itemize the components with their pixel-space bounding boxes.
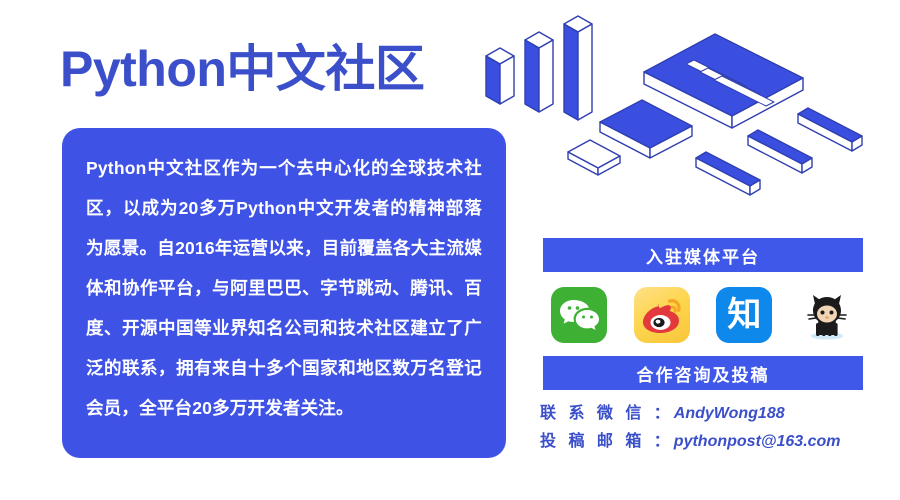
contact-wechat-value[interactable]: AndyWong188 [674, 405, 785, 422]
iso-bar-medium [525, 32, 553, 112]
contact-block: 联 系 微 信 ：AndyWong188 投 稿 邮 箱 ：pythonpost… [540, 400, 880, 456]
media-platform-heading: 入驻媒体平台 [543, 238, 863, 272]
social-icon-row: 知 [543, 282, 863, 348]
poster-canvas: Python中文社区 [0, 0, 900, 500]
contact-heading: 合作咨询及投稿 [543, 356, 863, 390]
wechat-icon[interactable] [551, 287, 607, 343]
zhihu-glyph: 知 [727, 298, 761, 332]
iso-bar-small [486, 48, 514, 104]
iso-stick-3 [798, 108, 862, 151]
intro-card: Python中文社区作为一个去中心化的全球技术社区，以成为20多万Python中… [62, 128, 506, 458]
iso-stick-2 [748, 130, 812, 173]
contact-email-line: 投 稿 邮 箱 ：pythonpost@163.com [540, 428, 880, 456]
iso-plate-medium [600, 100, 692, 158]
page-title: Python中文社区 [60, 38, 424, 100]
iso-stick-1 [696, 152, 760, 195]
github-icon[interactable] [799, 287, 855, 343]
zhihu-icon[interactable]: 知 [716, 287, 772, 343]
iso-plate-small [568, 140, 620, 175]
contact-wechat-label: 联 系 微 信 ： [540, 405, 674, 422]
intro-paragraph: Python中文社区作为一个去中心化的全球技术社区，以成为20多万Python中… [86, 148, 482, 428]
isometric-illustration [470, 0, 900, 230]
contact-email-value[interactable]: pythonpost@163.com [674, 433, 841, 450]
contact-email-label: 投 稿 邮 箱 ： [540, 433, 674, 450]
iso-bar-tall [564, 16, 592, 120]
weibo-icon[interactable] [634, 287, 690, 343]
contact-wechat-line: 联 系 微 信 ：AndyWong188 [540, 400, 880, 428]
